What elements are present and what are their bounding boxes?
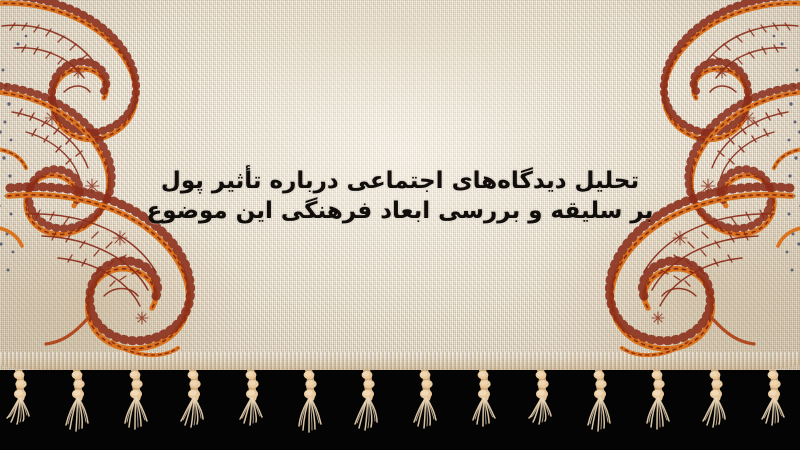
tassel	[296, 370, 326, 446]
tassel	[122, 370, 152, 446]
tassel	[180, 370, 210, 446]
tassel	[412, 370, 442, 446]
tassel	[470, 370, 500, 446]
tassel	[354, 370, 384, 446]
slide-canvas: تحلیل دیدگاه‌های اجتماعی درباره تأثیر پو…	[0, 0, 800, 450]
title-line-1: تحلیل دیدگاه‌های اجتماعی درباره تأثیر پو…	[0, 168, 800, 195]
tassel	[702, 370, 732, 446]
tassel	[238, 370, 268, 446]
bottom-black-band	[0, 370, 800, 450]
title-line-2: بر سلیقه و بررسی ابعاد فرهنگی این موضوع	[0, 198, 800, 225]
slide-title: تحلیل دیدگاه‌های اجتماعی درباره تأثیر پو…	[0, 168, 800, 225]
tassel	[64, 370, 94, 446]
tassel-fringe-row	[0, 370, 800, 450]
tassel	[528, 370, 558, 446]
tassel	[760, 370, 790, 446]
tassel	[6, 370, 36, 446]
tassel	[586, 370, 616, 446]
tassel	[644, 370, 674, 446]
